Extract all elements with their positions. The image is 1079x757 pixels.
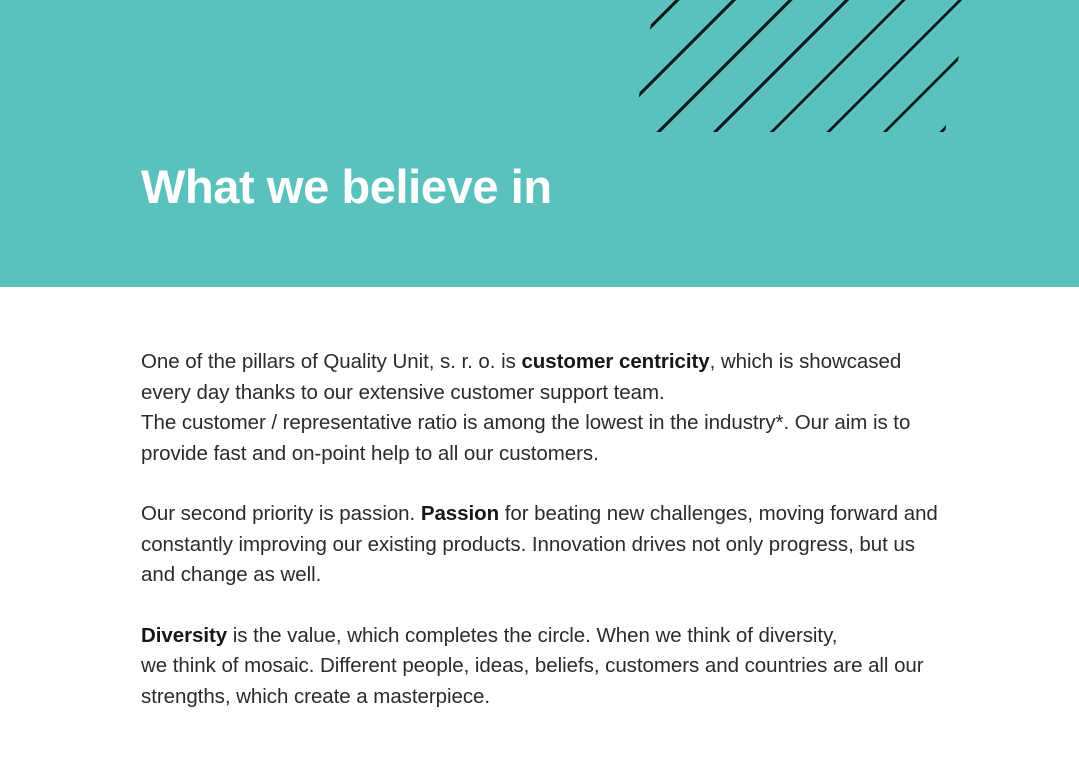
paragraph-customer-centricity: One of the pillars of Quality Unit, s. r… [141, 347, 951, 469]
emphasis-text: customer centricity [521, 350, 709, 373]
body-text: is the value, which completes the circle… [227, 624, 837, 647]
body-text: Our second priority is passion. [141, 502, 421, 525]
page-title: What we believe in [141, 160, 552, 214]
emphasis-text: Diversity [141, 624, 227, 647]
hero-banner: What we believe in [0, 0, 1079, 287]
body-content: One of the pillars of Quality Unit, s. r… [0, 287, 1079, 712]
body-text: The customer / representative ratio is a… [141, 411, 910, 465]
emphasis-text: Passion [421, 502, 499, 525]
paragraph-list: One of the pillars of Quality Unit, s. r… [141, 347, 959, 712]
body-text: we think of mosaic. Different people, id… [141, 654, 924, 708]
page-root: { "theme": { "accent_teal": "#5bc1bd", "… [0, 0, 1079, 757]
paragraph-passion: Our second priority is passion. Passion … [141, 499, 951, 591]
paragraph-diversity: Diversity is the value, which completes … [141, 621, 951, 713]
body-text: One of the pillars of Quality Unit, s. r… [141, 350, 521, 373]
diagonal-stripes-decoration [633, 0, 969, 132]
